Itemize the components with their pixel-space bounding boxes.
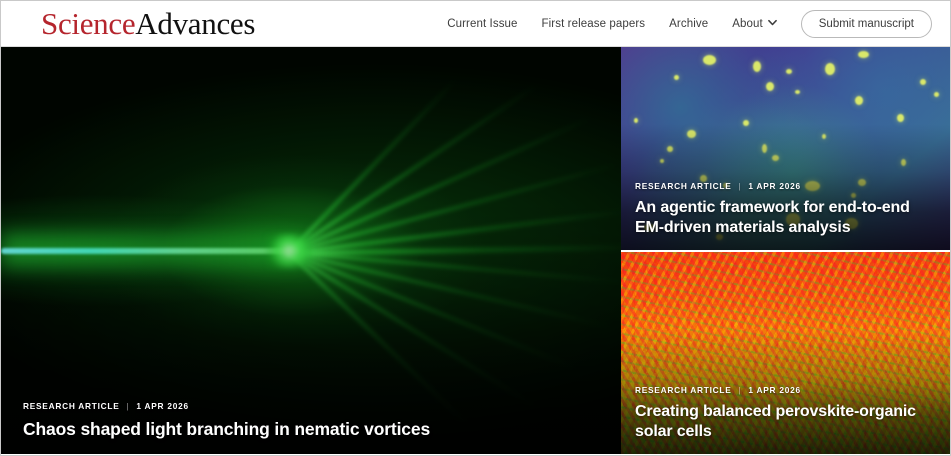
site-logo[interactable]: ScienceAdvances (41, 8, 255, 39)
article-text-bottom-right: RESEARCH ARTICLE | 1 APR 2026 Creating b… (621, 385, 950, 454)
article-title-top-right[interactable]: An agentic framework for end-to-end EM-d… (635, 198, 936, 238)
logo-advances-word: Advances (135, 6, 255, 41)
article-date-top-right: 1 APR 2026 (748, 181, 800, 191)
meta-separator: | (127, 401, 130, 411)
meta-separator: | (739, 181, 742, 191)
article-text-main: RESEARCH ARTICLE | 1 APR 2026 Chaos shap… (1, 401, 621, 454)
article-text-top-right: RESEARCH ARTICLE | 1 APR 2026 An agentic… (621, 181, 950, 250)
featured-article-card-top-right[interactable]: RESEARCH ARTICLE | 1 APR 2026 An agentic… (621, 47, 950, 252)
site-header: ScienceAdvances Current Issue First rele… (1, 1, 950, 47)
featured-articles-grid: RESEARCH ARTICLE | 1 APR 2026 Chaos shap… (1, 47, 950, 454)
article-type-top-right: RESEARCH ARTICLE (635, 181, 732, 191)
article-date-main: 1 APR 2026 (136, 401, 188, 411)
article-title-bottom-right[interactable]: Creating balanced perovskite-organic sol… (635, 402, 936, 442)
article-date-bottom-right: 1 APR 2026 (748, 385, 800, 395)
article-meta-bottom-right: RESEARCH ARTICLE | 1 APR 2026 (635, 385, 936, 395)
logo-science-word: Science (41, 6, 135, 41)
featured-article-card-bottom-right[interactable]: RESEARCH ARTICLE | 1 APR 2026 Creating b… (621, 252, 950, 454)
primary-navigation: Current Issue First release papers Archi… (447, 10, 942, 38)
nav-current-issue[interactable]: Current Issue (447, 18, 517, 30)
chevron-down-icon (768, 18, 777, 27)
nav-first-release-papers[interactable]: First release papers (542, 18, 646, 30)
journal-homepage: ScienceAdvances Current Issue First rele… (0, 0, 951, 456)
article-meta-main: RESEARCH ARTICLE | 1 APR 2026 (23, 401, 603, 411)
nav-about-dropdown[interactable]: About (732, 18, 777, 30)
nav-about-label: About (732, 18, 763, 30)
nav-archive[interactable]: Archive (669, 18, 708, 30)
meta-separator: | (739, 385, 742, 395)
article-image-main (1, 47, 621, 454)
submit-manuscript-button[interactable]: Submit manuscript (801, 10, 932, 38)
article-type-main: RESEARCH ARTICLE (23, 401, 120, 411)
featured-article-card-main[interactable]: RESEARCH ARTICLE | 1 APR 2026 Chaos shap… (1, 47, 621, 454)
side-articles-column: RESEARCH ARTICLE | 1 APR 2026 An agentic… (621, 47, 950, 454)
article-meta-top-right: RESEARCH ARTICLE | 1 APR 2026 (635, 181, 936, 191)
article-type-bottom-right: RESEARCH ARTICLE (635, 385, 732, 395)
article-title-main[interactable]: Chaos shaped light branching in nematic … (23, 418, 603, 440)
